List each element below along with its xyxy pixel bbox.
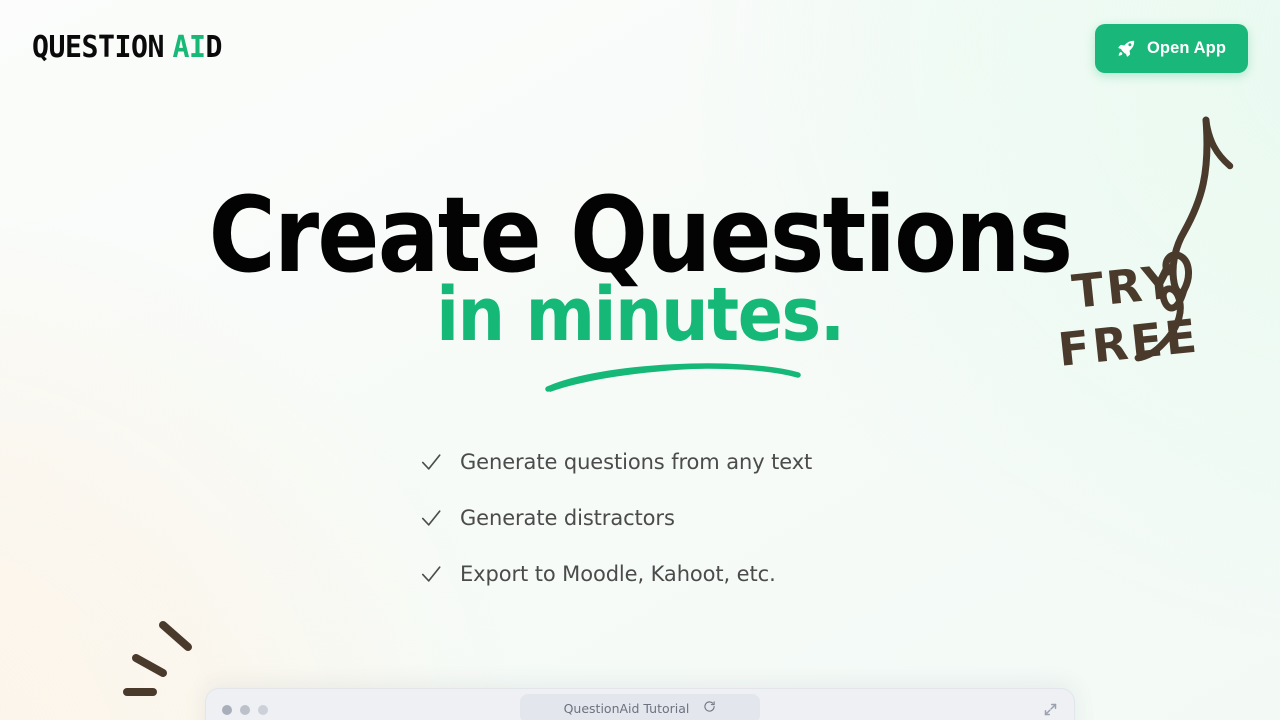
refresh-icon[interactable] bbox=[703, 700, 716, 718]
feature-label: Generate distractors bbox=[460, 506, 675, 530]
handwriting-try-free: TRY FREE bbox=[1060, 254, 1202, 377]
underline-swoosh-decoration bbox=[540, 348, 820, 396]
browser-window-mock: QuestionAid Tutorial bbox=[205, 688, 1075, 720]
handwriting-line-2: FREE bbox=[1060, 308, 1202, 377]
check-icon bbox=[420, 451, 442, 473]
handwriting-line-1: TRY bbox=[1070, 254, 1182, 319]
feature-label: Export to Moodle, Kahoot, etc. bbox=[460, 562, 776, 586]
check-icon bbox=[420, 507, 442, 529]
list-item: Generate distractors bbox=[420, 501, 812, 535]
window-close-dot[interactable] bbox=[222, 705, 232, 715]
page-title: Create Questions bbox=[77, 185, 1203, 286]
list-item: Generate questions from any text bbox=[420, 445, 812, 479]
check-icon bbox=[420, 563, 442, 585]
browser-titlebar: QuestionAid Tutorial bbox=[206, 689, 1074, 720]
expand-icon[interactable] bbox=[1043, 702, 1058, 717]
list-item: Export to Moodle, Kahoot, etc. bbox=[420, 557, 812, 591]
feature-list: Generate questions from any text Generat… bbox=[420, 445, 812, 591]
window-traffic-lights bbox=[222, 705, 268, 715]
window-minimize-dot[interactable] bbox=[240, 705, 250, 715]
hero-section: Create Questions in minutes. Generate qu… bbox=[0, 0, 1280, 720]
window-maximize-dot[interactable] bbox=[258, 705, 268, 715]
try-free-decoration: TRY FREE bbox=[1060, 100, 1280, 400]
motion-dashes-icon bbox=[110, 605, 220, 715]
browser-window-title: QuestionAid Tutorial bbox=[564, 701, 690, 716]
feature-label: Generate questions from any text bbox=[460, 450, 812, 474]
browser-address-bar[interactable]: QuestionAid Tutorial bbox=[520, 694, 760, 720]
page-subtitle: in minutes. bbox=[64, 278, 1216, 352]
